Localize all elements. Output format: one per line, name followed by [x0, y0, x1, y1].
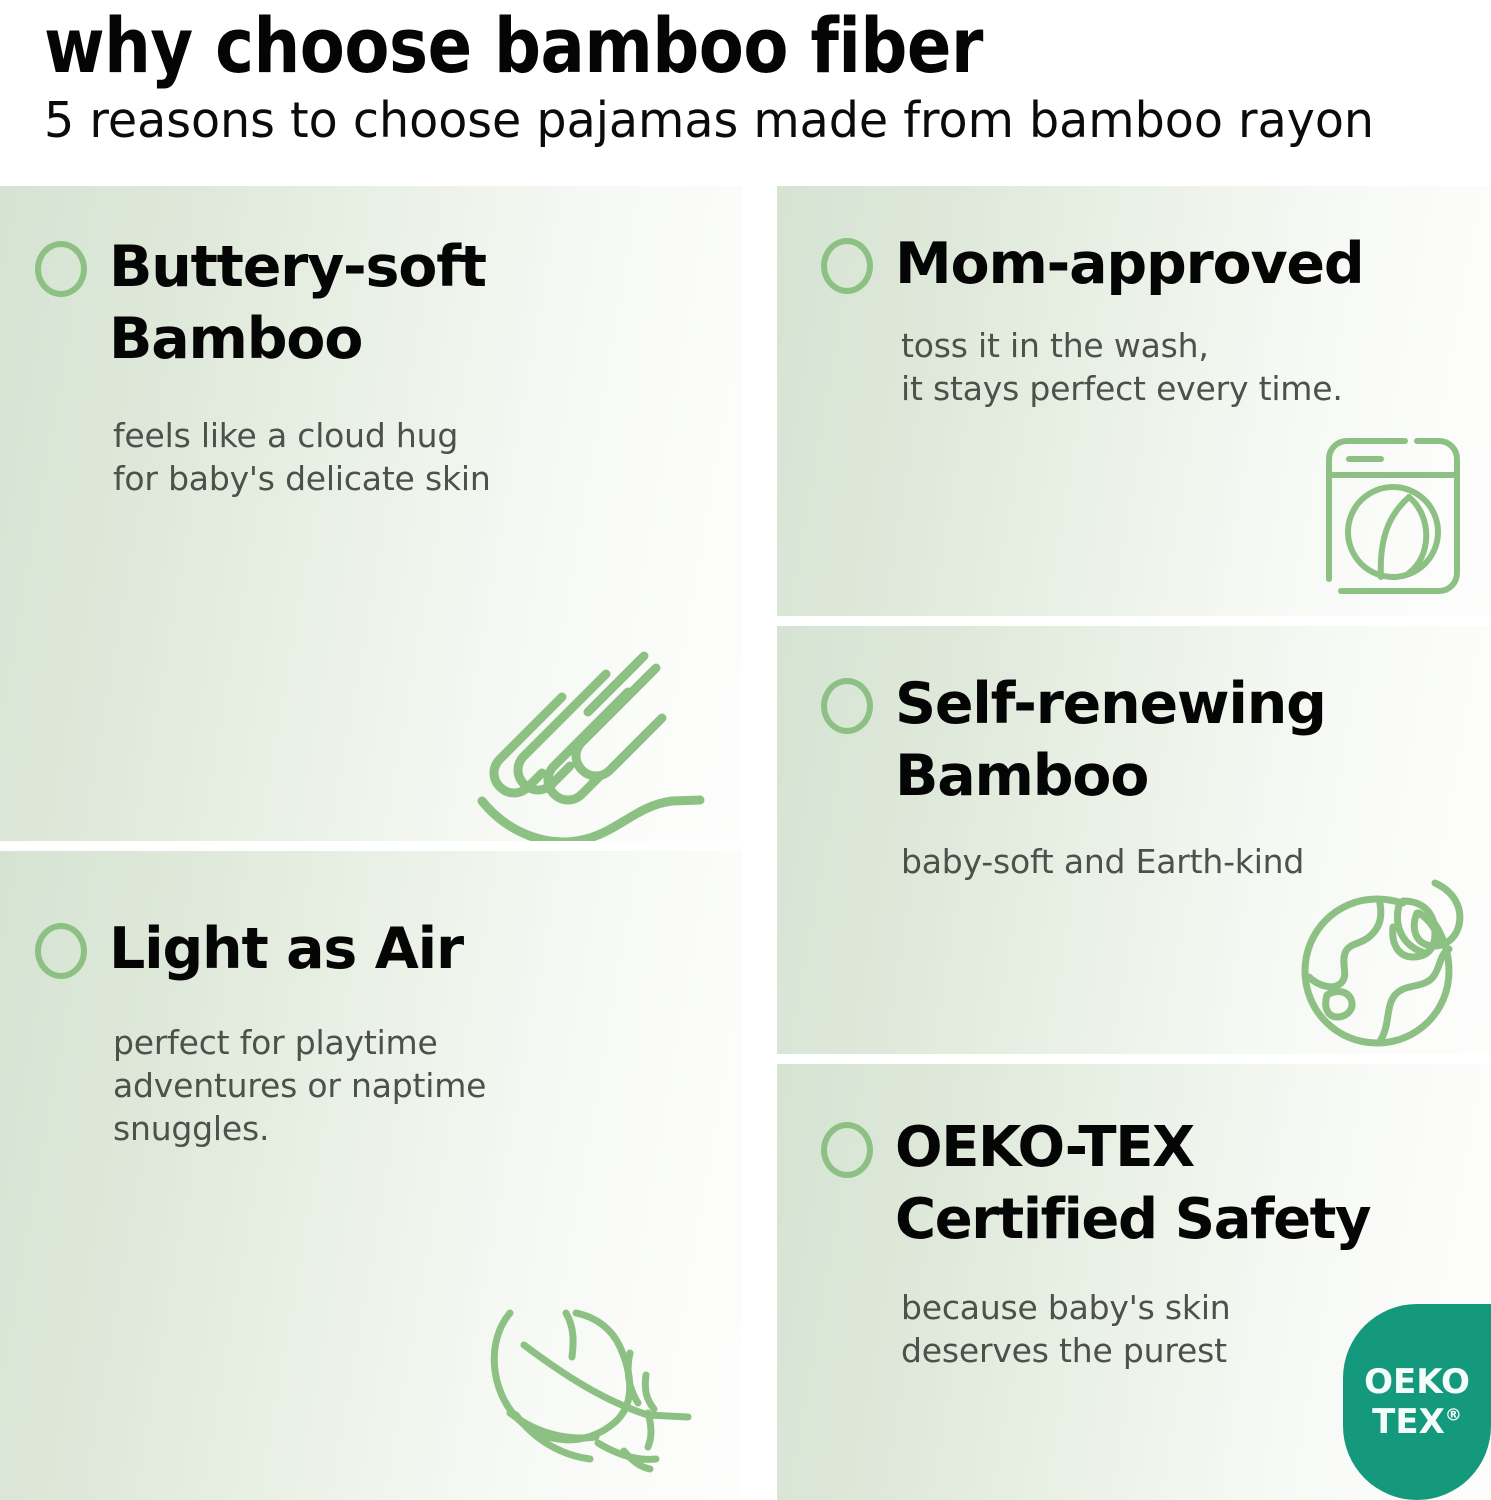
card-heading-row: Light as Air	[0, 851, 742, 985]
earth-leaf-icon	[1283, 865, 1483, 1054]
soft-touch-hand-icon	[466, 643, 716, 841]
washing-machine-icon	[1313, 435, 1473, 602]
page-title: why choose bamboo fiber	[44, 4, 1433, 88]
benefit-card-light-as-air: Light as Air perfect for playtime advent…	[0, 851, 742, 1500]
circle-outline-icon	[35, 923, 87, 979]
benefit-card-buttery-soft-bamboo: Buttery-soft Bamboo feels like a cloud h…	[0, 186, 742, 841]
benefit-card-oeko-tex-certified-safety: OEKO-TEX Certified Safety because baby's…	[777, 1064, 1491, 1500]
oeko-tex-badge: OEKO TEX®	[1343, 1304, 1491, 1500]
feather-icon	[480, 1283, 712, 1488]
registered-trademark-icon: ®	[1445, 1406, 1462, 1426]
card-heading-row: Buttery-soft Bamboo	[0, 186, 742, 375]
circle-outline-icon	[821, 678, 873, 734]
card-title: Buttery-soft Bamboo	[109, 231, 486, 375]
card-description: perfect for playtime adventures or napti…	[0, 985, 742, 1150]
circle-outline-icon	[821, 238, 873, 294]
card-heading-row: OEKO-TEX Certified Safety	[777, 1064, 1491, 1256]
card-description: feels like a cloud hug for baby's delica…	[0, 375, 742, 500]
card-heading-row: Self-renewing Bamboo	[777, 626, 1491, 812]
circle-outline-icon	[821, 1122, 873, 1178]
benefit-card-mom-approved: Mom-approved toss it in the wash, it sta…	[777, 186, 1491, 616]
card-title: OEKO-TEX Certified Safety	[895, 1112, 1370, 1256]
benefit-card-self-renewing-bamboo: Self-renewing Bamboo baby-soft and Earth…	[777, 626, 1491, 1054]
card-title: Mom-approved	[895, 228, 1364, 300]
oeko-tex-badge-text: TEX	[1372, 1402, 1445, 1442]
circle-outline-icon	[35, 241, 87, 297]
card-description: toss it in the wash, it stays perfect ev…	[777, 300, 1491, 410]
card-title: Self-renewing Bamboo	[895, 668, 1326, 812]
benefits-grid: Buttery-soft Bamboo feels like a cloud h…	[0, 186, 1491, 1500]
card-heading-row: Mom-approved	[777, 186, 1491, 300]
card-title: Light as Air	[109, 913, 463, 985]
oeko-tex-badge-line1: OEKO	[1364, 1363, 1470, 1401]
page-header: why choose bamboo fiber 5 reasons to cho…	[0, 0, 1491, 186]
oeko-tex-badge-line2: TEX®	[1372, 1403, 1462, 1441]
page-subtitle: 5 reasons to choose pajamas made from ba…	[44, 92, 1448, 150]
